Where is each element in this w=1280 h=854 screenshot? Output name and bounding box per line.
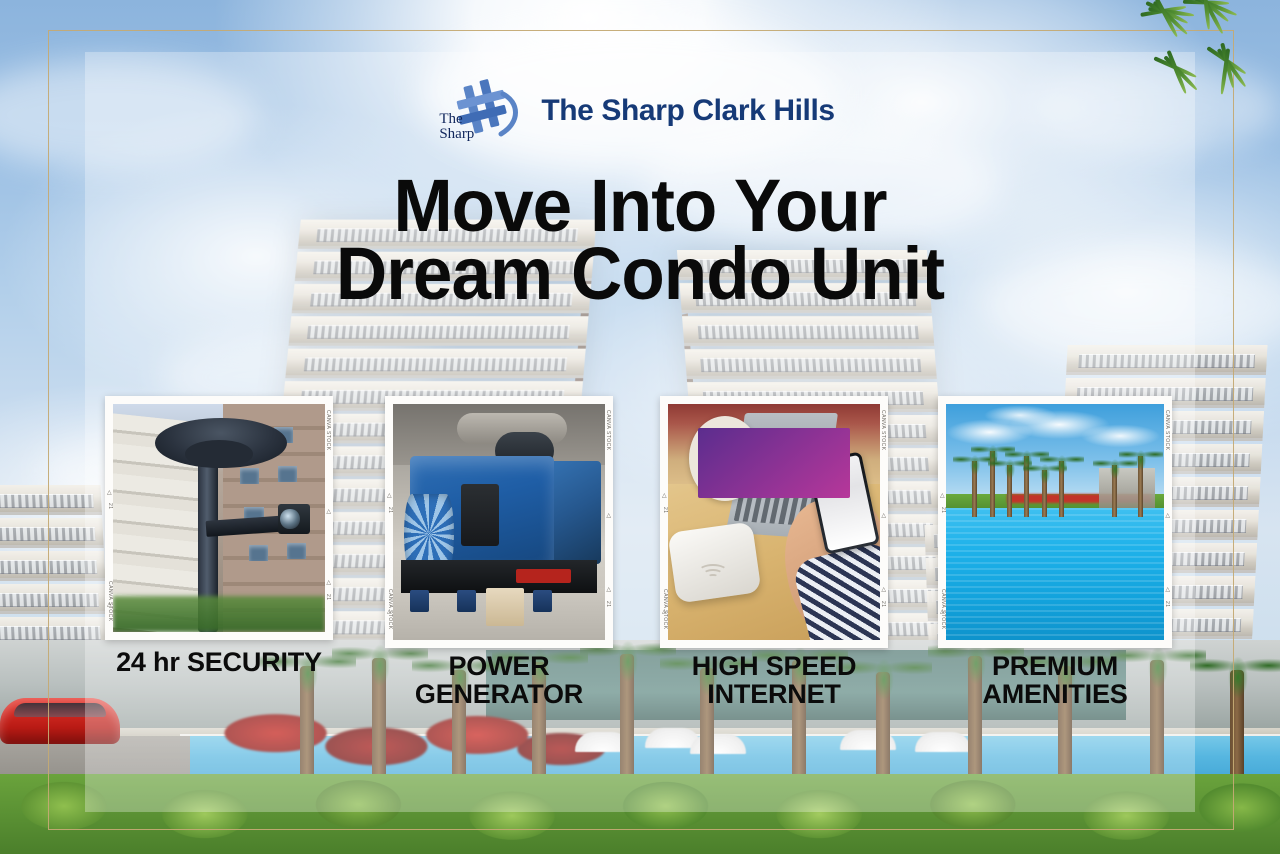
feature-card-row: CANVA STOCK CANVA STOCK 21 21 △ △ △ △ 24… xyxy=(0,392,1280,712)
wifi-icon xyxy=(693,546,731,579)
photo-tick-label: 21 xyxy=(605,601,611,608)
feature-caption-security: 24 hr SECURITY xyxy=(105,648,333,676)
frame-marker-icon: △ xyxy=(1165,586,1170,593)
brand-logo-row: The Sharp The Sharp Clark Hills xyxy=(0,78,1280,144)
photo-watermark: CANVA STOCK xyxy=(880,410,886,451)
feature-caption-amenities: PREMIUM AMENITIES xyxy=(938,652,1172,709)
caption-line-1: HIGH SPEED xyxy=(692,651,857,681)
frame-marker-icon: △ xyxy=(387,608,392,615)
photo-tick-label: 21 xyxy=(1164,601,1170,608)
frame-marker-icon: △ xyxy=(1165,512,1170,519)
photo-tick-label: 21 xyxy=(107,503,113,510)
frame-marker-icon: △ xyxy=(940,492,945,499)
page-title: Move Into Your Dream Condo Unit xyxy=(26,172,1255,308)
swimming-pool-photo xyxy=(946,404,1164,640)
feature-caption-power-generator: POWER GENERATOR xyxy=(385,652,613,709)
photo-watermark: CANVA STOCK xyxy=(1164,410,1170,451)
frame-marker-icon: △ xyxy=(107,489,112,496)
photo-tick-label: 21 xyxy=(662,507,668,514)
photo-watermark: CANVA STOCK xyxy=(325,410,331,451)
sharp-hash-logo-icon: The Sharp xyxy=(445,78,531,144)
frame-marker-icon: △ xyxy=(387,492,392,499)
promo-poster: The Sharp The Sharp Clark Hills Move Int… xyxy=(0,0,1280,854)
frame-marker-icon: △ xyxy=(326,579,331,586)
logo-small-line1: The xyxy=(439,112,474,127)
frame-marker-icon: △ xyxy=(881,586,886,593)
caption-line-1: 24 hr SECURITY xyxy=(116,647,322,677)
feature-card-amenities[interactable]: CANVA STOCK CANVA STOCK 21 21 △ △ △ △ PR… xyxy=(938,396,1172,648)
security-camera-photo xyxy=(113,404,325,632)
logo-small-text: The Sharp xyxy=(439,112,474,142)
feature-caption-internet: HIGH SPEED INTERNET xyxy=(660,652,888,709)
frame-marker-icon: △ xyxy=(662,492,667,499)
frame-marker-icon: △ xyxy=(606,512,611,519)
photo-tick-label: 21 xyxy=(940,507,946,514)
laptop-router-phone-photo xyxy=(668,404,880,640)
caption-line-2: AMENITIES xyxy=(982,679,1127,709)
caption-line-1: PREMIUM xyxy=(992,651,1118,681)
photo-tick-label: 21 xyxy=(325,594,331,601)
frame-marker-icon: △ xyxy=(326,508,331,515)
photo-tick-label: 21 xyxy=(880,601,886,608)
frame-marker-icon: △ xyxy=(606,586,611,593)
frame-marker-icon: △ xyxy=(940,608,945,615)
photo-tick-label: 21 xyxy=(387,507,393,514)
feature-card-security[interactable]: CANVA STOCK CANVA STOCK 21 21 △ △ △ △ 24… xyxy=(105,396,333,640)
logo-small-line2: Sharp xyxy=(439,127,474,142)
frame-marker-icon: △ xyxy=(881,512,886,519)
caption-line-2: INTERNET xyxy=(707,679,840,709)
brand-name: The Sharp Clark Hills xyxy=(541,94,834,128)
feature-card-power-generator[interactable]: CANVA STOCK CANVA STOCK 21 21 △ △ △ △ PO… xyxy=(385,396,613,648)
power-generator-photo xyxy=(393,404,605,640)
caption-line-2: GENERATOR xyxy=(415,679,583,709)
headline-line-2: Dream Condo Unit xyxy=(26,240,1255,308)
feature-card-internet[interactable]: CANVA STOCK CANVA STOCK 21 21 △ △ △ △ HI… xyxy=(660,396,888,648)
frame-marker-icon: △ xyxy=(662,608,667,615)
photo-watermark: CANVA STOCK xyxy=(605,410,611,451)
frame-marker-icon: △ xyxy=(107,601,112,608)
caption-line-1: POWER xyxy=(448,651,549,681)
